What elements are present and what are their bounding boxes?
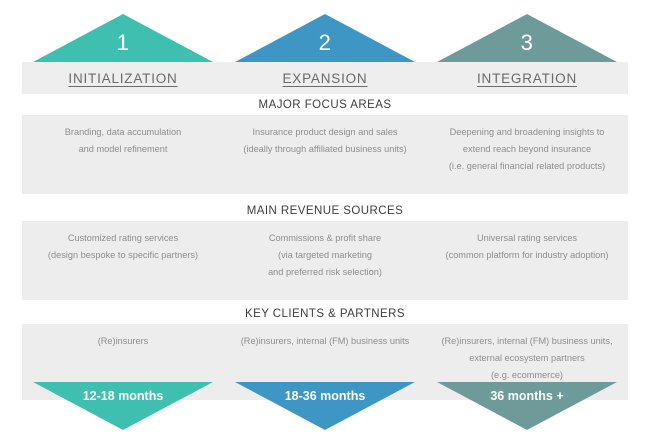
- body-line: (i.e. general financial related products…: [432, 158, 622, 175]
- phase-name-cell-1: INITIALIZATION: [22, 62, 224, 94]
- body-line: (Re)insurers, internal (FM) business uni…: [230, 333, 420, 350]
- body-line: Universal rating services: [432, 230, 622, 247]
- phase-name-cell-3: INTEGRATION: [426, 62, 628, 94]
- phase-3-duration: 36 months +: [490, 390, 563, 403]
- phase-2-name: EXPANSION: [283, 71, 368, 86]
- phase-3-name: INTEGRATION: [477, 71, 577, 86]
- section-2-cell-1: Customized rating services (design bespo…: [22, 221, 224, 300]
- body-line: Insurance product design and sales: [230, 124, 420, 141]
- phase-name-cell-2: EXPANSION: [224, 62, 426, 94]
- body-line: extend reach beyond insurance: [432, 141, 622, 158]
- section-2-title: MAIN REVENUE SOURCES: [247, 205, 404, 217]
- body-line: (via targeted marketing: [230, 247, 420, 264]
- phase-arrow-cell-2: 2: [224, 14, 426, 62]
- phase-arrow-cell-1: 1: [22, 14, 224, 62]
- body-line: external ecosystem partners: [432, 350, 622, 367]
- duration-arrow-cell-2: 18-36 months: [224, 382, 426, 430]
- section-1-cell-2: Insurance product design and sales (idea…: [224, 115, 426, 194]
- phase-2-duration: 18-36 months: [285, 390, 366, 403]
- body-line: (common platform for industry adoption): [432, 247, 622, 264]
- phase-arrow-cell-3: 3: [426, 14, 628, 62]
- section-2-cell-3: Universal rating services (common platfo…: [426, 221, 628, 300]
- section-1-title: MAJOR FOCUS AREAS: [259, 99, 392, 111]
- phase-1-duration: 12-18 months: [83, 390, 164, 403]
- duration-arrow-cell-1: 12-18 months: [22, 382, 224, 430]
- phase-2-number: 2: [319, 32, 332, 54]
- phase-1-number: 1: [117, 32, 130, 54]
- section-1-cell-3: Deepening and broadening insights to ext…: [426, 115, 628, 194]
- section-2-title-band: MAIN REVENUE SOURCES: [22, 200, 628, 221]
- body-line: (Re)insurers, internal (FM) business uni…: [432, 333, 622, 350]
- body-line: Commissions & profit share: [230, 230, 420, 247]
- phase-1-name: INITIALIZATION: [68, 71, 177, 86]
- body-line: (ideally through affiliated business uni…: [230, 141, 420, 158]
- body-line: (Re)insurers: [28, 333, 218, 350]
- roadmap-diagram: 1 2 3 INITIALIZATION EXPANSION INTEGRATI…: [0, 0, 650, 435]
- body-line: (design bespoke to specific partners): [28, 247, 218, 264]
- phase-arrow-row-bottom: 12-18 months 18-36 months 36 months +: [22, 382, 628, 430]
- body-line: and model refinement: [28, 141, 218, 158]
- phase-arrow-row-top: 1 2 3: [22, 14, 628, 62]
- body-line: Branding, data accumulation: [28, 124, 218, 141]
- section-2-cell-2: Commissions & profit share (via targeted…: [224, 221, 426, 300]
- body-line: Customized rating services: [28, 230, 218, 247]
- section-major-focus-areas: MAJOR FOCUS AREAS Branding, data accumul…: [22, 94, 628, 194]
- section-main-revenue-sources: MAIN REVENUE SOURCES Customized rating s…: [22, 200, 628, 300]
- section-1-title-band: MAJOR FOCUS AREAS: [22, 94, 628, 115]
- section-3-title-band: KEY CLIENTS & PARTNERS: [22, 303, 628, 324]
- phase-3-number: 3: [521, 32, 534, 54]
- section-2-body: Customized rating services (design bespo…: [22, 221, 628, 300]
- body-line: and preferred risk selection): [230, 264, 420, 281]
- section-3-title: KEY CLIENTS & PARTNERS: [245, 308, 405, 320]
- phase-name-row: INITIALIZATION EXPANSION INTEGRATION: [22, 62, 628, 94]
- duration-arrow-cell-3: 36 months +: [426, 382, 628, 430]
- section-1-cell-1: Branding, data accumulation and model re…: [22, 115, 224, 194]
- section-1-body: Branding, data accumulation and model re…: [22, 115, 628, 194]
- body-line: Deepening and broadening insights to: [432, 124, 622, 141]
